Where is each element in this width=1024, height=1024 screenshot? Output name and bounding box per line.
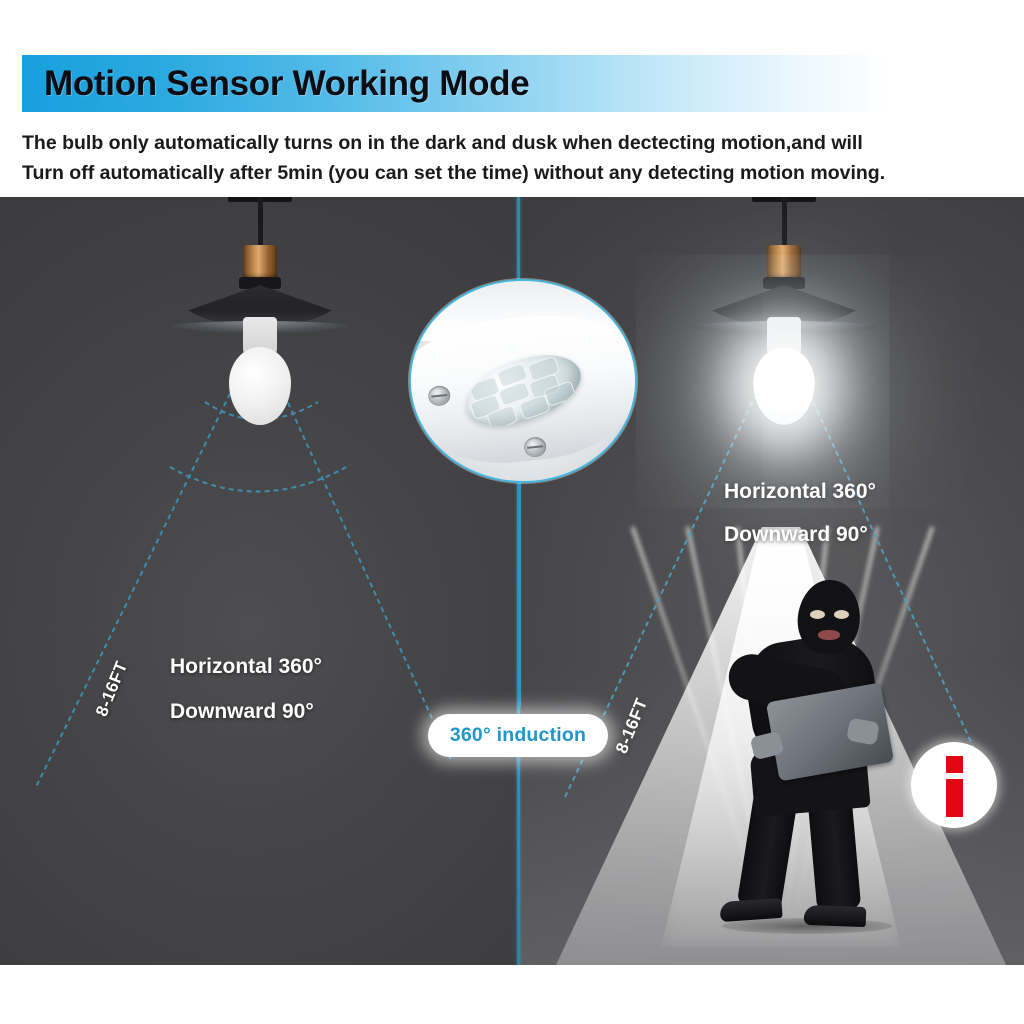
lamp-bulb [229,347,291,425]
description-text: The bulb only automatically turns on in … [22,128,1002,188]
page-title: Motion Sensor Working Mode [44,58,529,110]
description-line-1: The bulb only automatically turns on in … [22,128,1002,158]
horizontal-label-right: Horizontal 360° [724,480,876,504]
info-badge-icon [911,742,997,828]
figure-eye [834,610,849,619]
downward-label-left: Downward 90° [170,700,314,724]
downward-label-right: Downward 90° [724,523,868,547]
pir-sensor-closeup-photo [409,279,637,483]
pir-lens-dome [456,341,590,439]
housing-screw [523,436,547,458]
lamp-socket [767,245,801,279]
induction-badge-label: 360° induction [450,724,586,747]
info-i-dot [946,756,963,773]
figure-mouth [818,630,840,640]
scene-photo-panel: 360° induction 8-16FT Horizontal 360° Do… [0,197,1024,965]
figure-glove [846,718,880,746]
infographic-page: Motion Sensor Working Mode The bulb only… [0,0,1024,1024]
figure-eye [810,610,825,619]
info-i-stem [946,779,963,817]
lamp-bulb [753,347,815,425]
sensor-connector-line [519,479,521,707]
figure-shoe [804,905,867,927]
description-line-2: Turn off automatically after 5min (you c… [22,158,1002,188]
induction-badge: 360° induction [428,714,608,757]
intruder-figure [700,580,912,935]
lamp-cord [782,197,787,249]
pendant-lamp-off [170,197,350,437]
housing-screw [427,385,451,407]
horizontal-label-left: Horizontal 360° [170,655,322,679]
lamp-socket [243,245,277,279]
lamp-cord [258,197,263,249]
pendant-lamp-on [694,197,874,437]
